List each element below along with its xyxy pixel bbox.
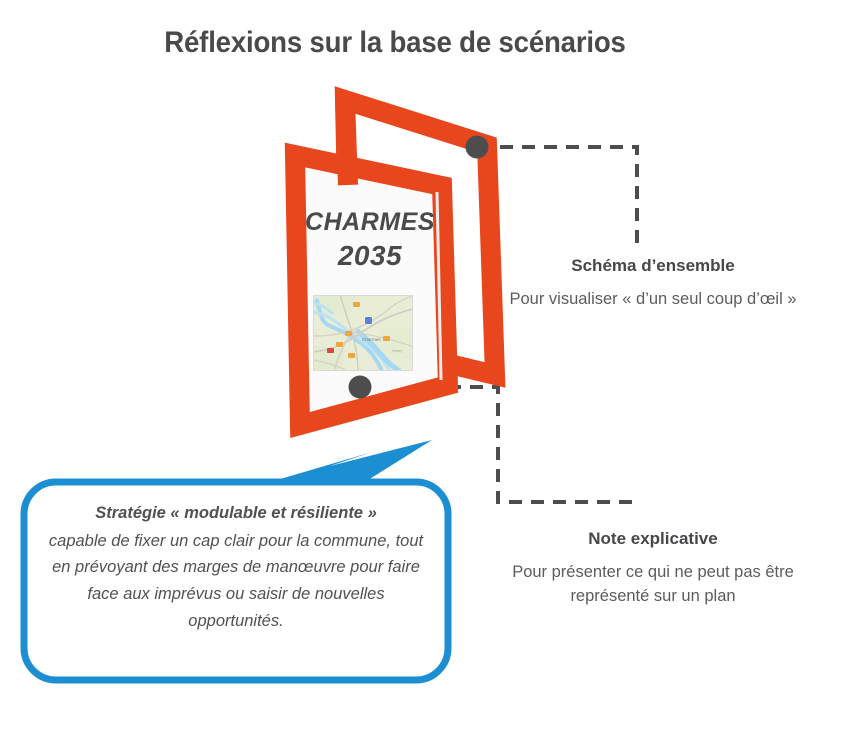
connector-upper [478,147,637,250]
svg-text:Vincey: Vincey [392,349,402,353]
svg-text:Charmes: Charmes [362,337,381,342]
callout-note-heading: Note explicative [508,529,798,549]
speech-bubble-text: Stratégie « modulable et résiliente » ca… [38,500,434,635]
speech-bubble-lead: Stratégie « modulable et résiliente » [38,500,434,527]
brochure-spine [345,100,348,185]
infographic-canvas: Réflexions sur la base de scénarios [0,0,860,730]
brochure-cover-year: 2035 [300,240,440,272]
callout-schema-heading: Schéma d’ensemble [508,256,798,276]
brochure-cover-title: CHARMES [300,208,440,237]
connector-dot-lower [349,376,372,399]
connector-dot-upper [466,136,489,159]
callout-schema-densemble: Schéma d’ensemble Pour visualiser « d’un… [508,256,798,312]
callout-note-body: Pour présenter ce qui ne peut pas être r… [508,561,798,609]
map-thumbnail: Charmes Vincey [313,295,413,371]
brochure-fold-edge [442,186,448,385]
callout-schema-body: Pour visualiser « d’un seul coup d’œil » [508,288,798,312]
speech-bubble-body-text: capable de fixer un cap clair pour la co… [38,528,434,635]
callout-note-explicative: Note explicative Pour présenter ce qui n… [508,529,798,609]
